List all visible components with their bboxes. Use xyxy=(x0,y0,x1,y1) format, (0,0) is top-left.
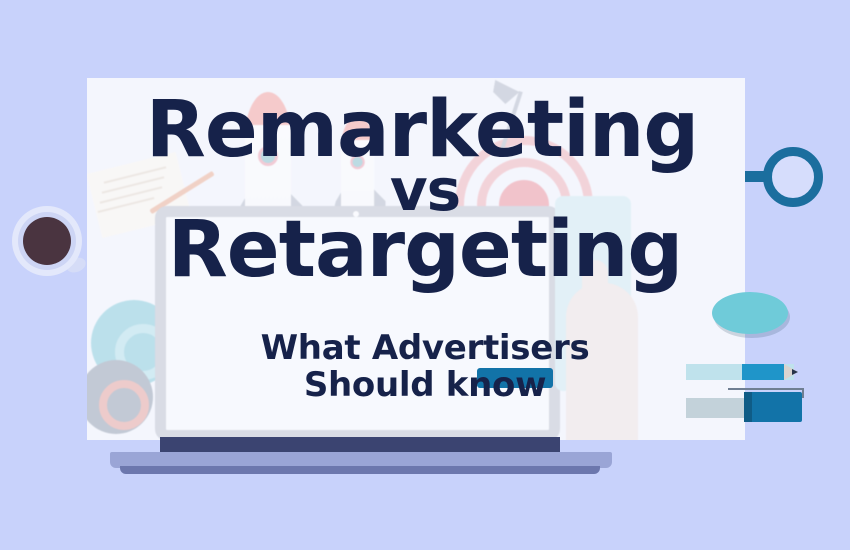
page-title: Remarketing vs Retargeting xyxy=(0,94,850,287)
title-line-retargeting: Retargeting xyxy=(0,214,850,287)
page-subtitle: What Advertisers Should know xyxy=(0,330,850,403)
subtitle-line-1: What Advertisers xyxy=(0,330,850,367)
text-layer: Remarketing vs Retargeting What Advertis… xyxy=(0,0,850,550)
subtitle-line-2: Should know xyxy=(0,367,850,404)
poster-canvas: Remarketing vs Retargeting What Advertis… xyxy=(0,0,850,550)
